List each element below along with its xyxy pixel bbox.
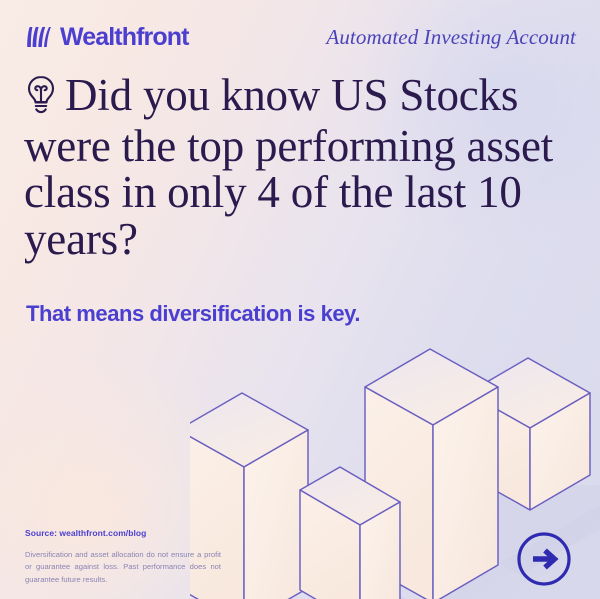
lightbulb-icon: [24, 74, 58, 123]
bar-3: [365, 349, 498, 599]
header: Wealthfront Automated Investing Account: [26, 20, 576, 54]
arrow-right-circle-icon[interactable]: [516, 531, 572, 587]
subheadline: That means diversification is key.: [26, 301, 566, 327]
wealthfront-wave-mark-icon: [26, 26, 51, 48]
headline-text: Did you know US Stocks were the top perf…: [24, 70, 553, 264]
brand-name: Wealthfront: [60, 25, 189, 50]
brand-lockup[interactable]: Wealthfront: [26, 25, 189, 50]
source-label[interactable]: Source: wealthfront.com/blog: [25, 528, 146, 538]
bar-4: [468, 358, 590, 510]
account-type-label: Automated Investing Account: [326, 25, 576, 50]
bar-2: [300, 467, 400, 599]
promo-card: Wealthfront Automated Investing Account …: [0, 0, 600, 599]
headline: Did you know US Stocks were the top perf…: [24, 72, 576, 262]
disclaimer-text: Diversification and asset allocation do …: [25, 549, 221, 586]
